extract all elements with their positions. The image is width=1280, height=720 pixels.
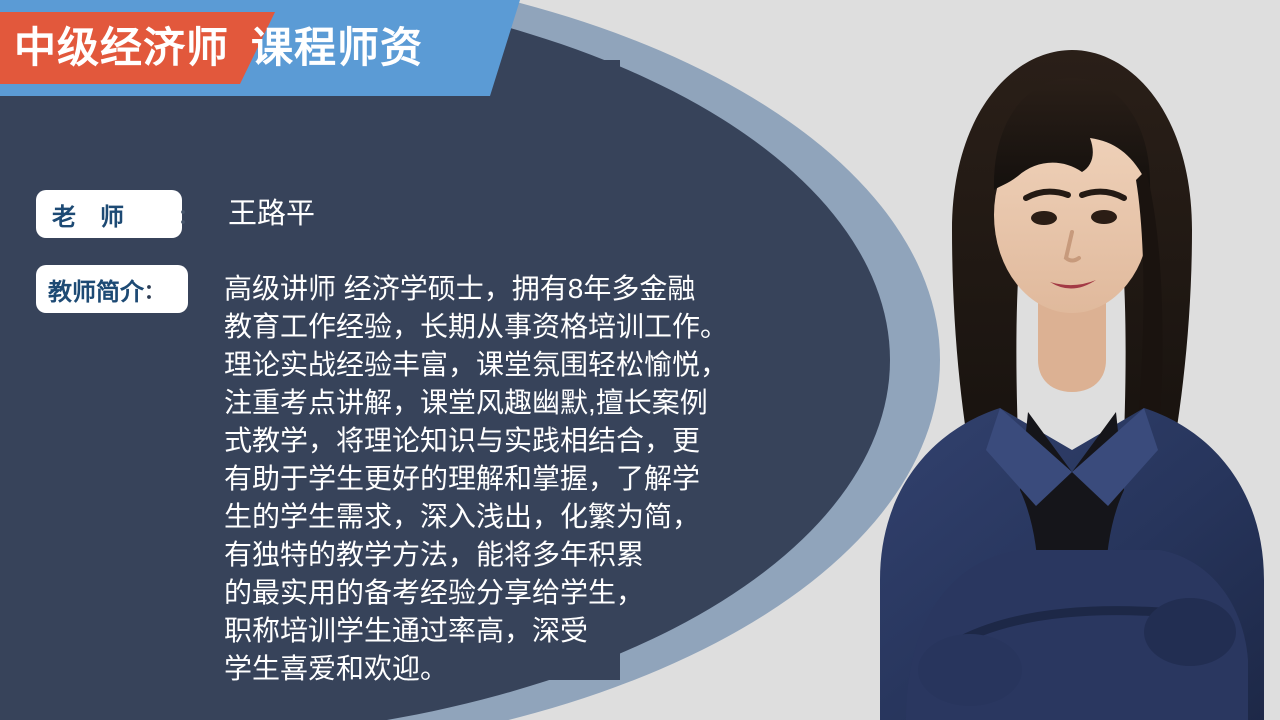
- sleeve-cuff-right: [1144, 598, 1236, 666]
- bio-label-colon: ：: [144, 275, 164, 304]
- portrait-illustration: [860, 20, 1280, 720]
- bio-line: 有助于学生更好的理解和掌握，了解学: [224, 460, 784, 498]
- bio-line: 式教学，将理论知识与实践相结合，更: [224, 422, 784, 460]
- bio-line: 有独特的教学方法，能将多年积累: [224, 536, 784, 574]
- teacher-label-text: 老 师: [52, 197, 124, 232]
- eye-left: [1031, 211, 1057, 225]
- bio-label-text: 教师简介: [48, 272, 144, 307]
- bio-line: 的最实用的备考经验分享给学生，: [224, 574, 784, 612]
- bio-line: 理论实战经验丰富，课堂氛围轻松愉悦，: [224, 346, 784, 384]
- bio-line: 高级讲师 经济学硕士，拥有8年多金融: [224, 270, 784, 308]
- instructor-portrait: [860, 20, 1280, 720]
- bio-line: 生的学生需求，深入浅出，化繁为简，: [224, 498, 784, 536]
- header-banner: 中级经济师 课程师资: [0, 0, 500, 96]
- eye-right: [1091, 210, 1117, 224]
- slide-canvas: 中级经济师 课程师资 老 师 ： 王路平 教师简介 ： 高级讲师 经济学硕士，拥…: [0, 0, 1280, 720]
- bio-line: 职称培训学生通过率高，深受: [224, 612, 784, 650]
- teacher-label-chip: 老 师 ：: [36, 190, 182, 238]
- bio-paragraph: 高级讲师 经济学硕士，拥有8年多金融教育工作经验，长期从事资格培训工作。理论实战…: [224, 270, 784, 688]
- bio-line: 教育工作经验，长期从事资格培训工作。: [224, 308, 784, 346]
- bio-line: 注重考点讲解，课堂风趣幽默,擅长案例: [224, 384, 784, 422]
- bio-label-chip: 教师简介 ：: [36, 265, 188, 313]
- bio-line: 学生喜爱和欢迎。: [224, 650, 784, 688]
- teacher-name-value: 王路平: [228, 194, 315, 234]
- page-title: 课程师资: [251, 27, 423, 69]
- teacher-label-colon: ：: [178, 200, 198, 229]
- sleeve-cuff-left: [918, 634, 1022, 706]
- banner-text-group: 中级经济师 课程师资: [0, 0, 500, 96]
- course-badge-label: 中级经济师: [14, 27, 229, 69]
